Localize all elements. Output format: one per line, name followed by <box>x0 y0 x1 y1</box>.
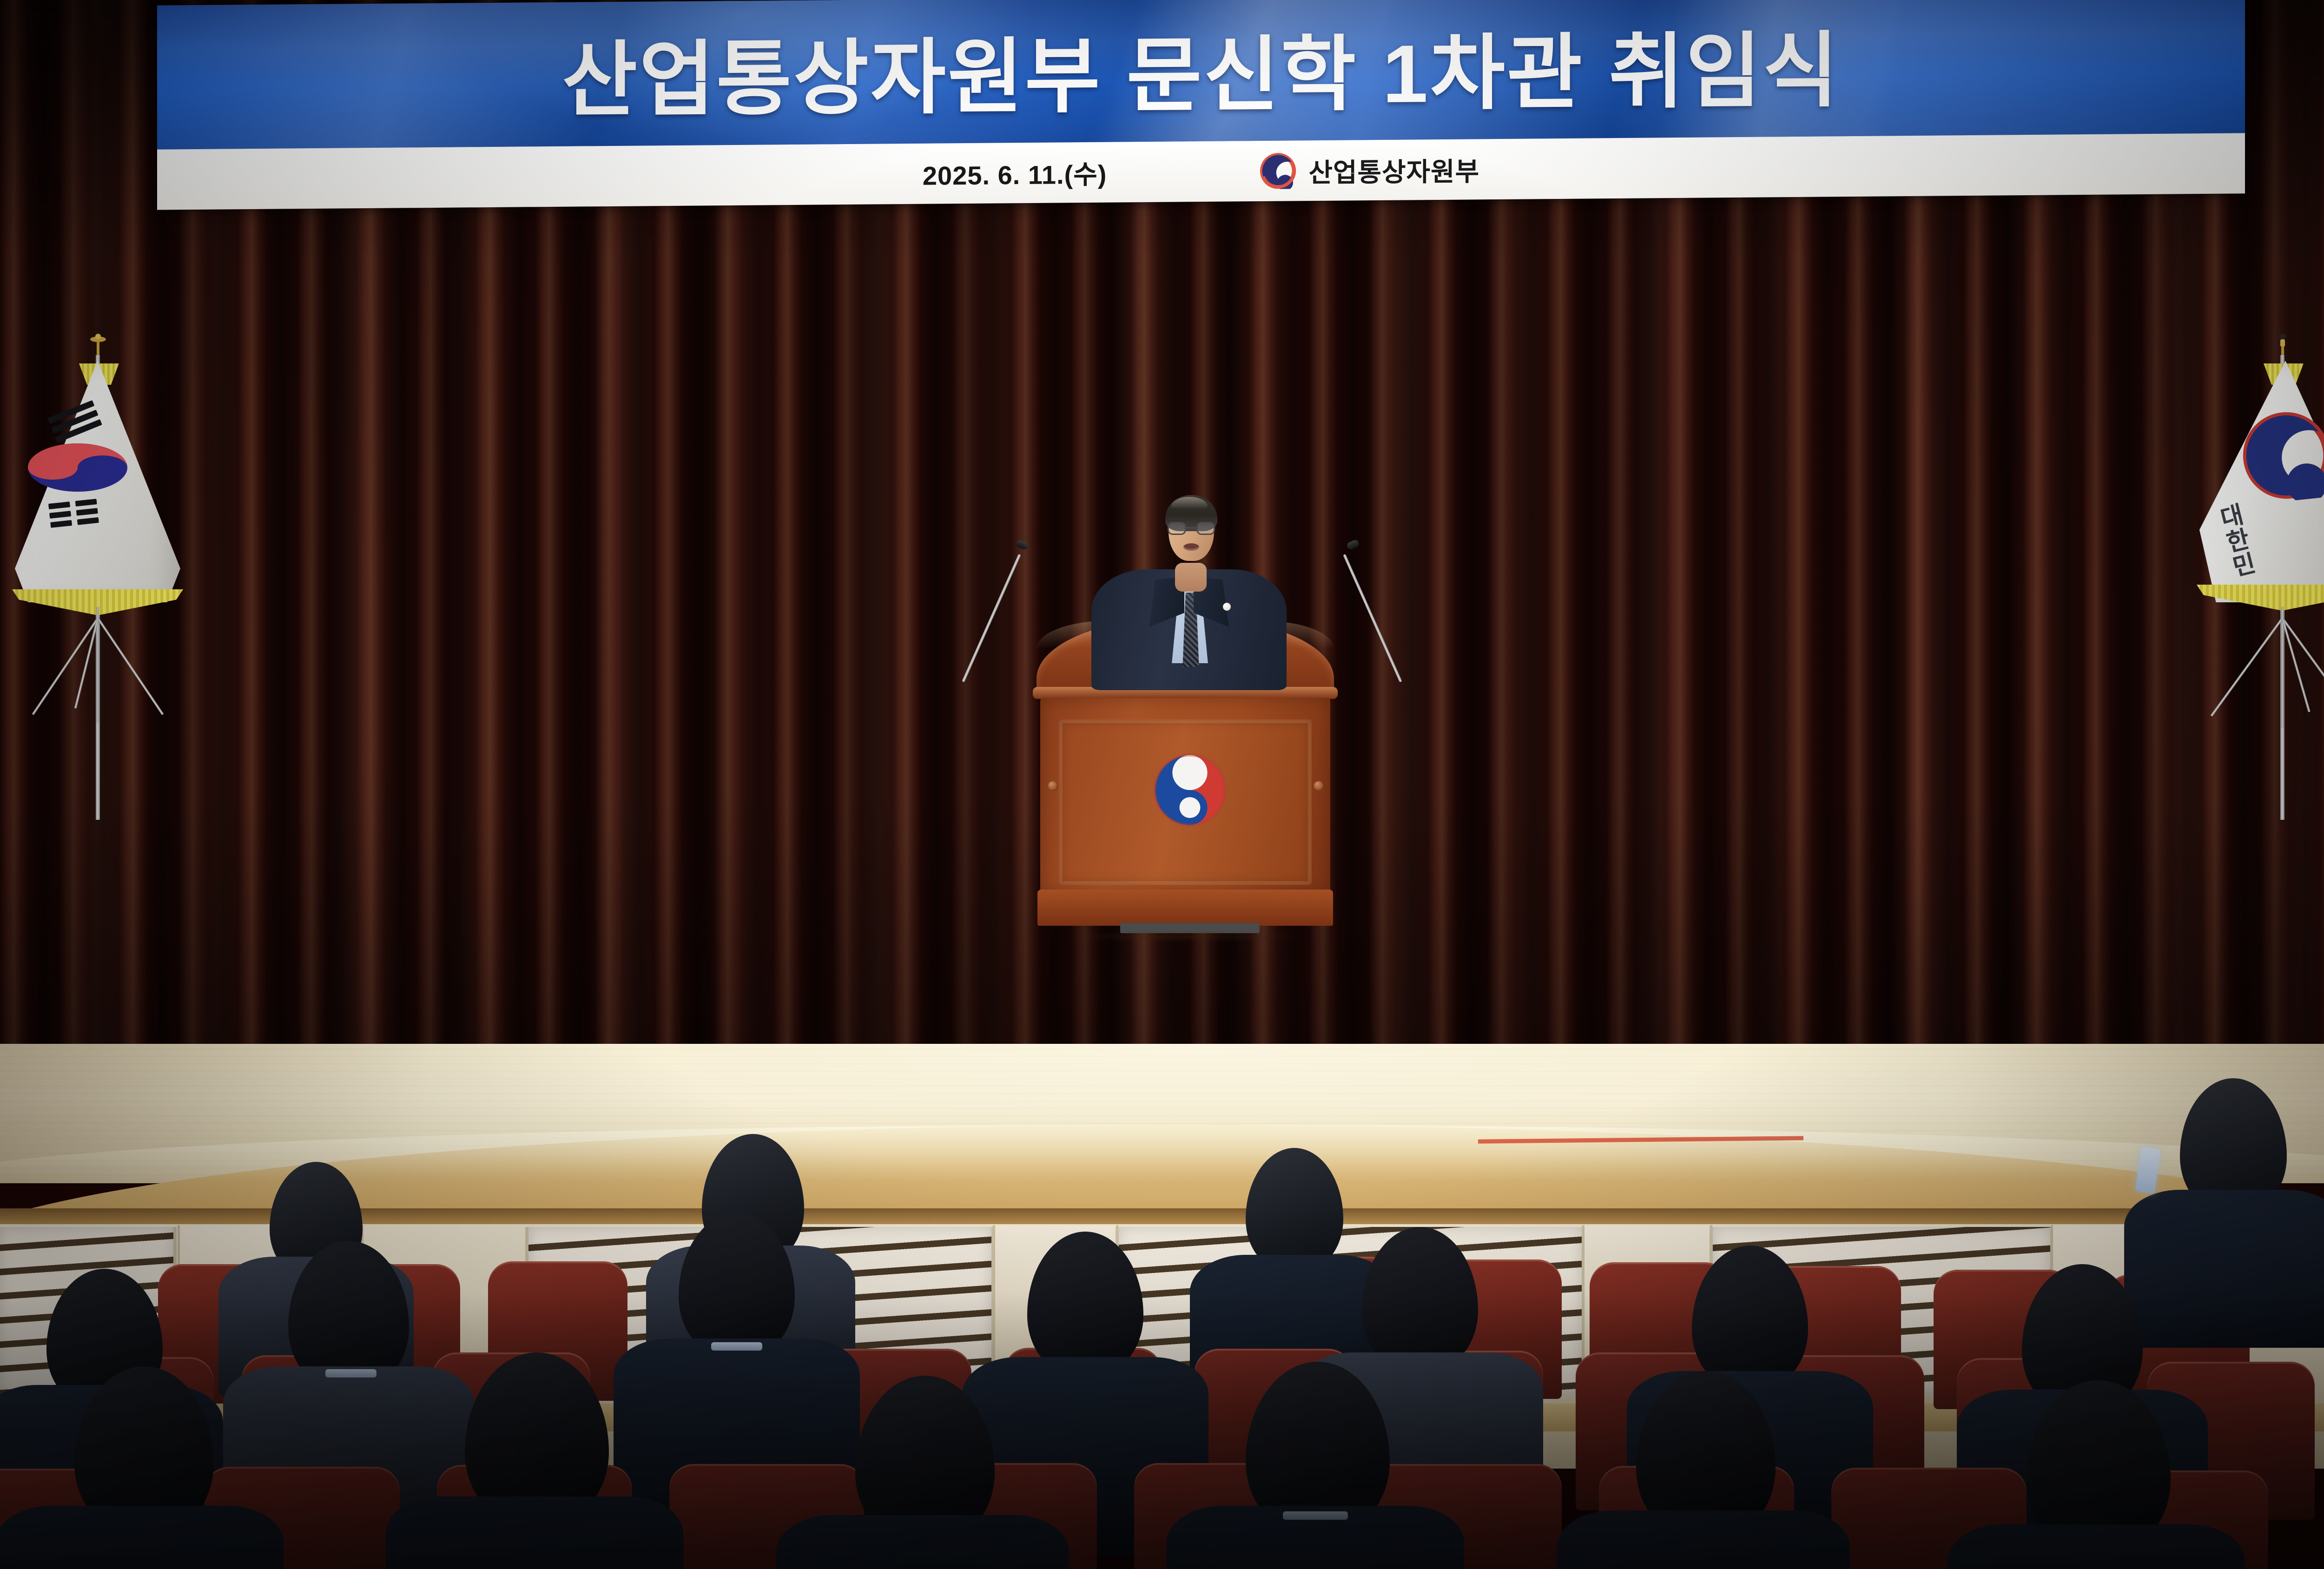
shirt-collar <box>711 1342 762 1351</box>
podium-screw <box>1314 781 1324 791</box>
podium-taeguk-emblem-icon <box>1153 753 1227 827</box>
korean-government-emblem-icon <box>2234 405 2324 506</box>
banner-ministry-brand: 산업통상자원부 <box>1260 151 1479 190</box>
shirt-collar <box>325 1369 376 1378</box>
podium-base <box>1037 890 1333 926</box>
korean-government-taeguk-emblem-icon <box>1260 152 1296 189</box>
audience-shoulders <box>1948 1524 2245 1569</box>
taeguk-circle-icon <box>27 442 128 493</box>
audience-shoulders <box>0 1506 284 1569</box>
speaker-person <box>1101 481 1277 676</box>
eyeglasses-icon <box>1168 522 1215 536</box>
flag-finial-icon <box>2272 333 2293 357</box>
audience-shoulders <box>2124 1190 2324 1348</box>
podium-screw <box>1048 781 1058 791</box>
audience-shoulders <box>386 1496 683 1569</box>
banner-date-text: 2025. 6. 11.(수) <box>923 153 1107 192</box>
eyeglass-lens <box>1168 522 1186 535</box>
eyeglass-bridge <box>1186 527 1196 528</box>
tripod-flag-stand-icon <box>42 607 153 737</box>
audience-section <box>0 1283 2324 1569</box>
tripod-flag-stand-icon <box>2226 607 2324 737</box>
speaker-neck <box>1175 563 1207 592</box>
speaker-eyebrow <box>1170 518 1188 521</box>
speaker-eyebrow <box>1195 518 1213 521</box>
audience-shoulders <box>1557 1510 1850 1569</box>
banner-title-text: 산업통상자원부 문신학 1차관 취임식 <box>157 0 2245 150</box>
eyeglass-lens <box>1196 522 1215 535</box>
podium-floor-shadow <box>1013 929 1357 944</box>
flag-finial-icon <box>87 333 109 357</box>
banner-ministry-name: 산업통상자원부 <box>1308 151 1479 190</box>
ceremony-photo: 산업통상자원부 문신학 1차관 취임식 2025. 6. 11.(수) 산업통상… <box>0 0 2324 1569</box>
lapel-pin-icon <box>1223 603 1231 611</box>
shirt-collar <box>1283 1511 1348 1520</box>
speaker-mouth <box>1183 543 1199 551</box>
event-banner: 산업통상자원부 문신학 1차관 취임식 2025. 6. 11.(수) 산업통상… <box>157 0 2245 210</box>
korean-government-flag: 대한민국정부 <box>2194 321 2324 855</box>
audience-shoulders <box>776 1515 1069 1569</box>
south-korea-national-flag <box>9 321 186 855</box>
